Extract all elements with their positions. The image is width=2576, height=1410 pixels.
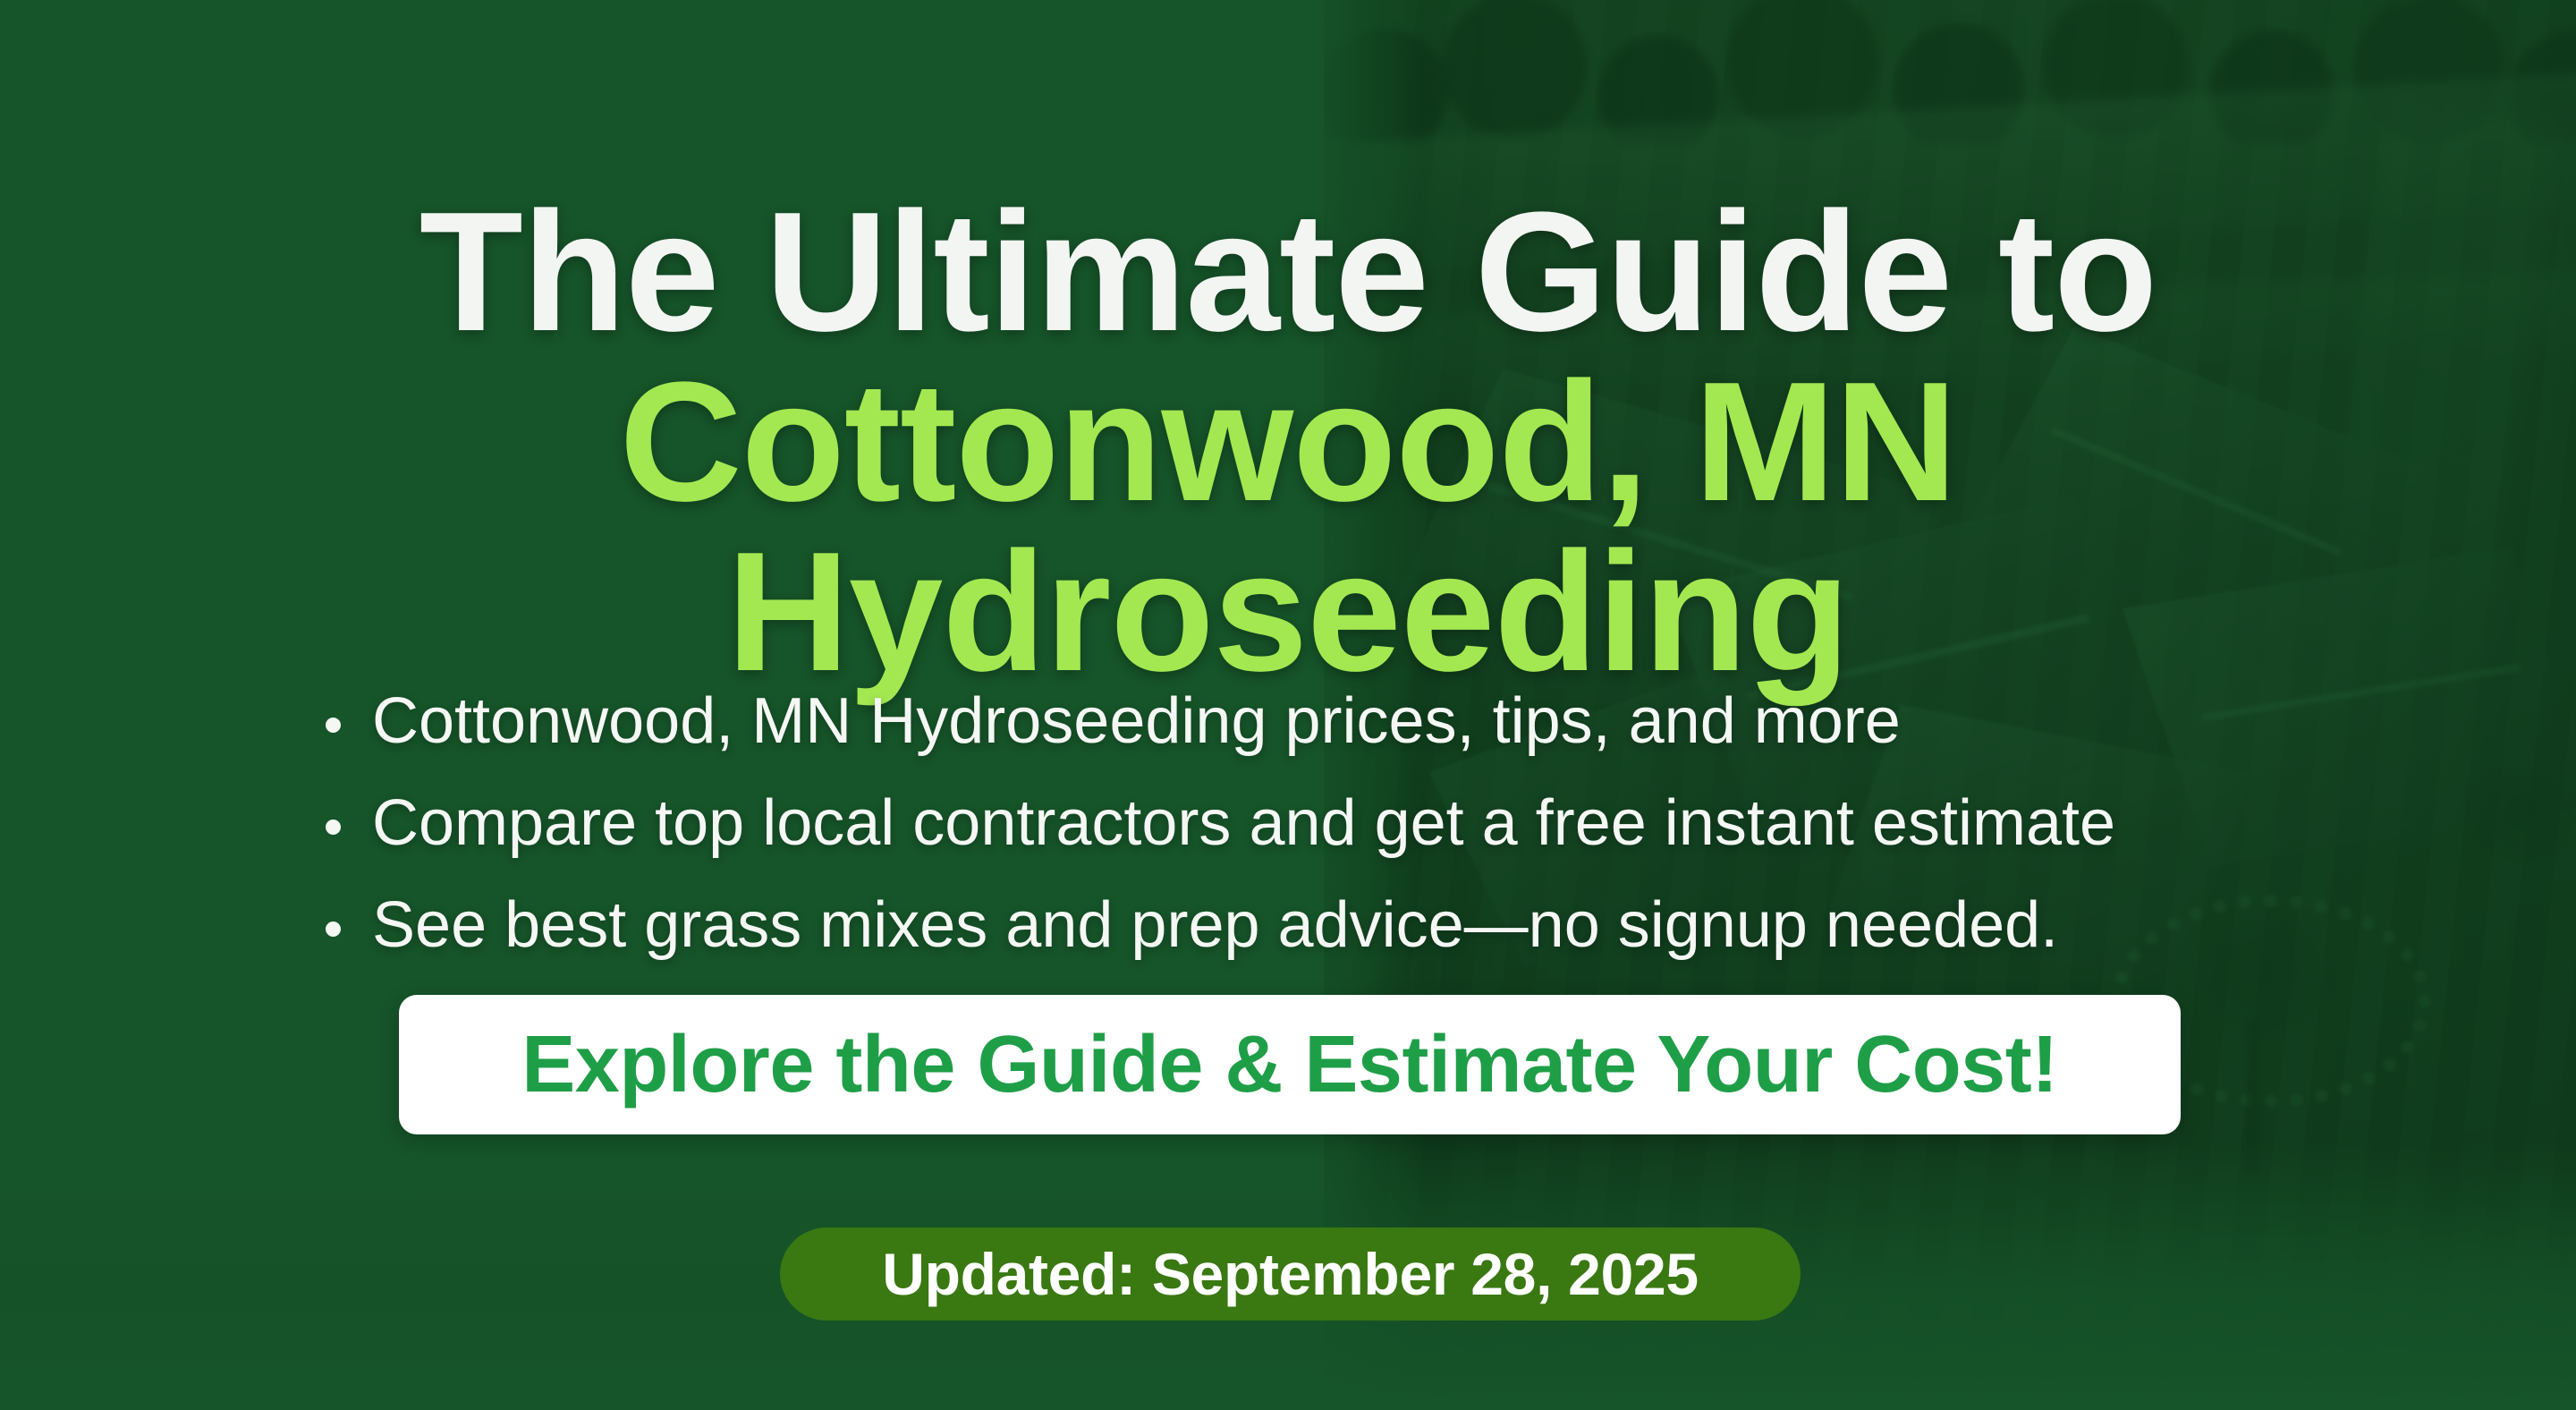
list-item-label: See best grass mixes and prep advice—no … xyxy=(372,889,2058,961)
status-badge: Updated: September 28, 2025 xyxy=(780,1227,1801,1321)
list-item-label: Cottonwood, MN Hydroseeding prices, tips… xyxy=(372,685,1901,757)
hero-content: The Ultimate Guide to Cottonwood, MN Hyd… xyxy=(0,0,2576,1410)
page-title: The Ultimate Guide to Cottonwood, MN Hyd… xyxy=(0,187,2576,697)
explore-guide-button[interactable]: Explore the Guide & Estimate Your Cost! xyxy=(399,995,2181,1134)
hero-banner: The Ultimate Guide to Cottonwood, MN Hyd… xyxy=(0,0,2576,1410)
bullet-dot-icon xyxy=(326,718,341,733)
bullet-dot-icon xyxy=(326,820,341,835)
list-item-label: Compare top local contractors and get a … xyxy=(372,787,2115,859)
list-item: See best grass mixes and prep advice—no … xyxy=(315,875,2115,977)
headline-line-1: The Ultimate Guide to xyxy=(419,177,2157,367)
headline-accent-line: Cottonwood, MN Hydroseeding xyxy=(268,357,2308,697)
list-item: Cottonwood, MN Hydroseeding prices, tips… xyxy=(315,671,2115,773)
benefits-list: Cottonwood, MN Hydroseeding prices, tips… xyxy=(315,671,2115,976)
list-item: Compare top local contractors and get a … xyxy=(315,773,2115,875)
bullet-dot-icon xyxy=(326,922,341,937)
updated-date-label: Updated: September 28, 2025 xyxy=(882,1240,1699,1308)
